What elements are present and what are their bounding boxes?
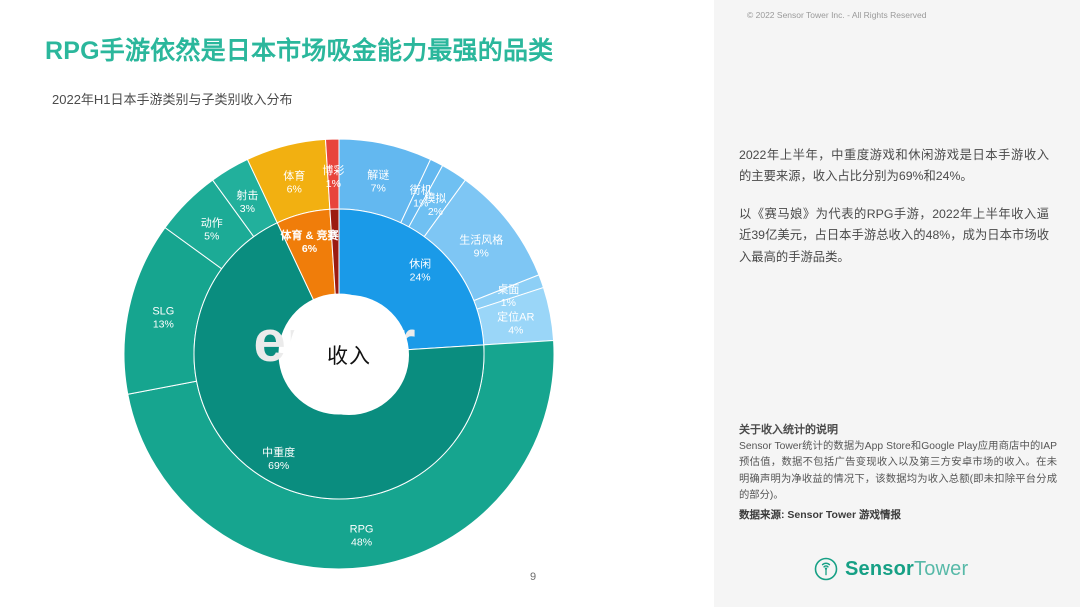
copyright-notice: © 2022 Sensor Tower Inc. - All Rights Re… (747, 10, 927, 20)
footnote-body: Sensor Tower统计的数据为App Store和Google Play应… (739, 439, 1057, 504)
logo-word-sensor: Sensor (845, 558, 914, 580)
insight-paragraph-1: 2022年上半年，中重度游戏和休闲游戏是日本手游收入的主要来源，收入占比分别为6… (739, 145, 1049, 187)
methodology-footnote: 关于收入统计的说明 Sensor Tower统计的数据为App Store和Go… (739, 421, 1057, 522)
slice-label: RPG48% (350, 524, 374, 549)
page-title: RPG手游依然是日本市场吸金能力最强的品类 (45, 31, 553, 67)
sunburst-chart: 解谜7%街机1%模拟2%生活风格9%桌面1%定位AR4%RPG48%SLG13%… (104, 134, 574, 574)
insight-text-block: 2022年上半年，中重度游戏和休闲游戏是日本手游收入的主要来源，收入占比分别为6… (739, 145, 1049, 285)
page-number: 9 (530, 571, 536, 583)
footnote-title: 关于收入统计的说明 (739, 421, 1057, 437)
donut-center: 收入 (289, 295, 409, 415)
slice-label: SLG13% (152, 306, 174, 331)
right-sidebar-panel: © 2022 Sensor Tower Inc. - All Rights Re… (714, 0, 1080, 607)
slice-label: 休闲24% (409, 257, 431, 284)
center-label: 收入 (327, 340, 371, 370)
slide-root: RPG手游依然是日本市场吸金能力最强的品类 2022年H1日本手游类别与子类别收… (0, 0, 1080, 607)
sensor-tower-mark-icon (814, 557, 838, 581)
left-content-panel: RPG手游依然是日本市场吸金能力最强的品类 2022年H1日本手游类别与子类别收… (0, 0, 714, 607)
logo-wordmark: SensorTower (845, 558, 968, 581)
footnote-source: 数据来源: Sensor Tower 游戏情报 (739, 507, 1057, 522)
page-subtitle: 2022年H1日本手游类别与子类别收入分布 (52, 89, 293, 108)
logo-word-tower: Tower (914, 558, 968, 580)
sensor-tower-logo: SensorTower (814, 557, 968, 581)
insight-paragraph-2: 以《赛马娘》为代表的RPG手游，2022年上半年收入逼近39亿美元，占日本手游总… (739, 204, 1049, 267)
